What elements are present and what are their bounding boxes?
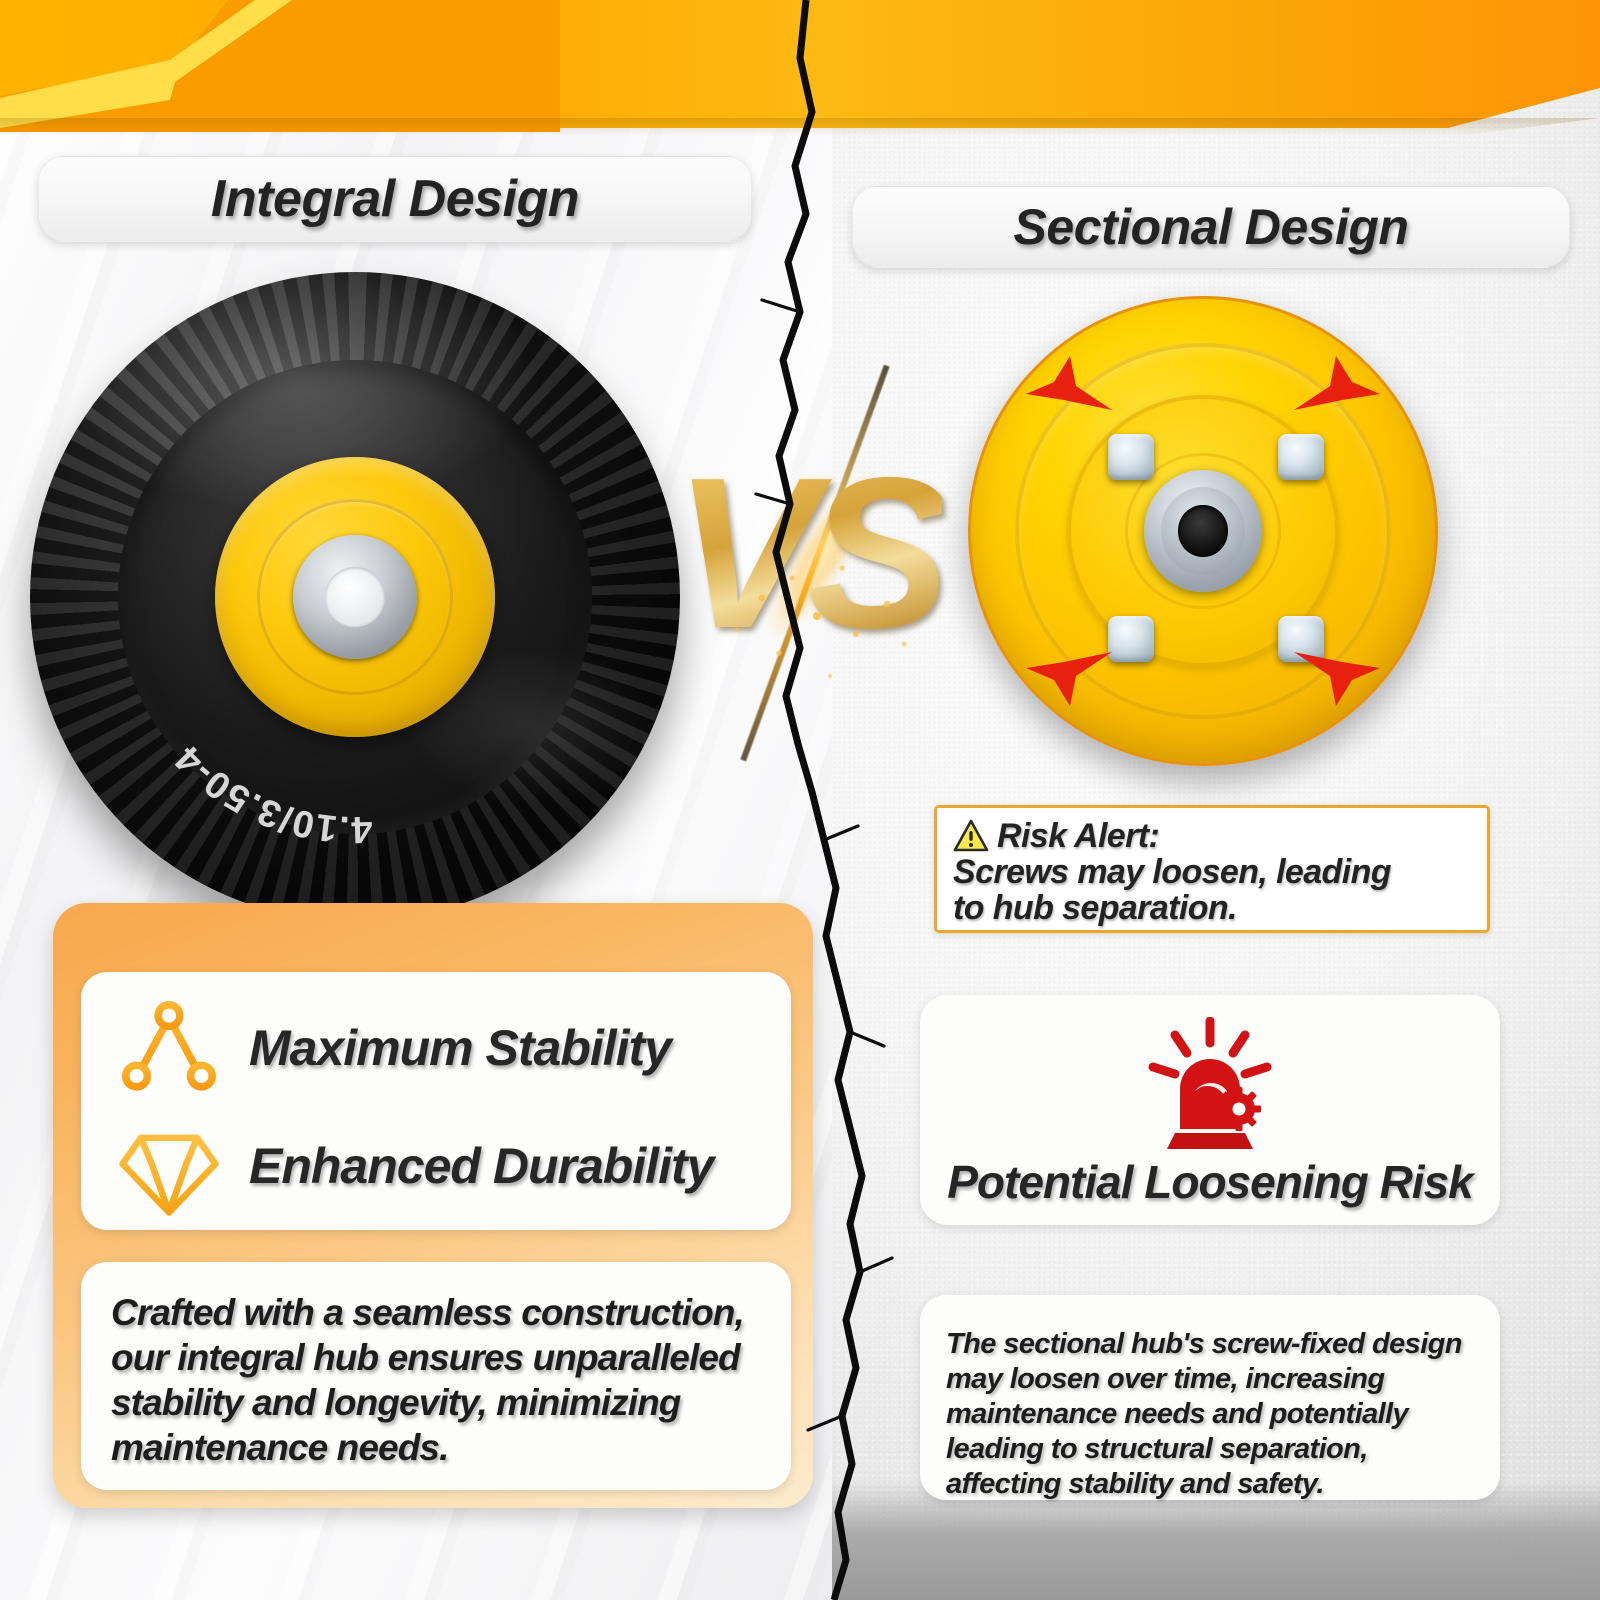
warning-arrow-icon [1286, 356, 1382, 418]
versus-label: VS [672, 408, 942, 698]
risk-alert-line-2: Screws may loosen, leading [953, 854, 1473, 890]
sectional-hub-image [968, 296, 1438, 766]
risk-alert-heading: Risk Alert: [997, 818, 1159, 854]
warning-arrow-icon [1286, 644, 1382, 706]
right-description-card: The sectional hub's screw-fixed design m… [920, 1295, 1500, 1500]
hub-bolt [1108, 434, 1154, 480]
right-risk-card: Potential Loosening Risk [920, 995, 1500, 1225]
left-title-text: Integral Design [211, 169, 579, 229]
left-title-pill: Integral Design [38, 156, 752, 242]
right-title-pill: Sectional Design [852, 186, 1570, 268]
warning-arrow-icon [1024, 356, 1120, 418]
hub-center-bearing [1144, 470, 1262, 592]
hub-bolt [1278, 434, 1324, 480]
risk-alert-line-3: to hub separation. [953, 890, 1473, 926]
left-features-card: Maximum Stability Enhanced Durability [81, 972, 791, 1230]
right-description-text: The sectional hub's screw-fixed design m… [946, 1327, 1480, 1502]
left-description-card: Crafted with a seamless construction, ou… [81, 1262, 791, 1490]
versus-badge: VS [672, 408, 942, 698]
feature-row: Enhanced Durability [115, 1112, 713, 1220]
risk-alert-box: Risk Alert: Screws may loosen, leading t… [934, 805, 1490, 933]
feature-label: Enhanced Durability [249, 1137, 713, 1195]
banner-drop-shadow [0, 118, 1600, 136]
feature-row: Maximum Stability [115, 994, 671, 1102]
alarm-siren-gear-icon [1135, 1017, 1285, 1157]
risk-card-title: Potential Loosening Risk [920, 1155, 1500, 1209]
infographic-canvas: Integral Design 4.10/3.50-4 [0, 0, 1600, 1600]
warning-arrow-icon [1024, 644, 1120, 706]
left-description-text: Crafted with a seamless construction, ou… [111, 1290, 767, 1470]
feature-label: Maximum Stability [249, 1019, 671, 1077]
hub-bearing [293, 535, 417, 659]
triangle-nodes-icon [115, 994, 223, 1102]
diamond-gem-icon [115, 1112, 223, 1220]
risk-alert-heading-row: Risk Alert: [953, 818, 1473, 854]
right-title-text: Sectional Design [1014, 198, 1409, 256]
warning-triangle-icon [953, 819, 989, 853]
